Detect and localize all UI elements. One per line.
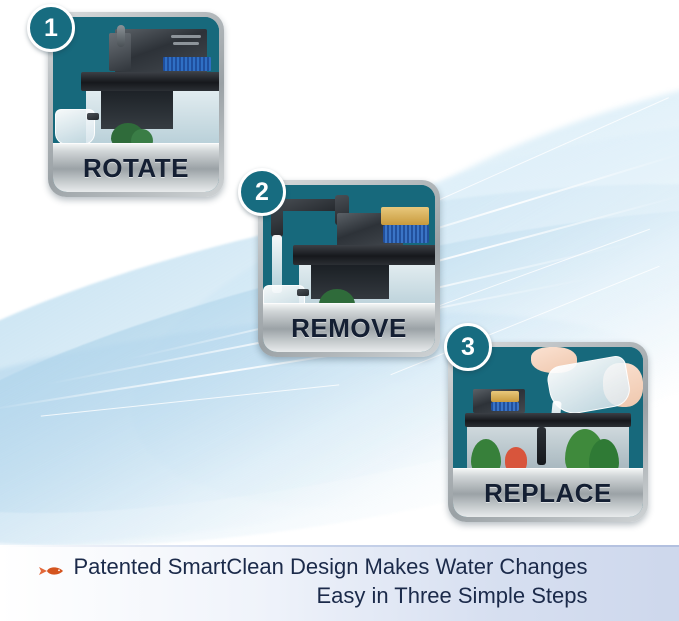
step-1-badge: 1 — [27, 4, 75, 52]
step-2-badge: 2 — [238, 168, 286, 216]
filter-cartridge — [491, 391, 519, 402]
step-3-label-bar: REPLACE — [453, 468, 643, 517]
caption-line-2: Easy in Three Simple Steps — [74, 581, 588, 610]
step-1-panel-inner: ROTATE — [53, 17, 219, 192]
aquarium-rim — [465, 413, 631, 427]
step-2-label-bar: REMOVE — [263, 303, 435, 352]
step-1-label-bar: ROTATE — [53, 143, 219, 192]
step-2-label: REMOVE — [291, 313, 407, 344]
step-1-photo — [53, 17, 219, 144]
filter-vent-1 — [171, 35, 201, 38]
step-2-photo — [263, 185, 435, 304]
caption-block: Patented SmartClean Design Makes Water C… — [0, 552, 679, 614]
caption-text: Patented SmartClean Design Makes Water C… — [74, 552, 606, 610]
filter-rotate-knob — [117, 25, 125, 47]
step-1-panel[interactable]: ROTATE — [48, 12, 224, 197]
filter-basket — [383, 225, 429, 243]
filter-cartridge — [381, 207, 429, 225]
step-3-panel-inner: REPLACE — [453, 347, 643, 517]
infographic-stage: ROTATE 1 — [0, 0, 679, 621]
aquarium-rim — [81, 72, 219, 91]
step-1-label: ROTATE — [83, 153, 189, 184]
aquarium-heater — [537, 427, 546, 465]
filter-vent-2 — [173, 42, 199, 45]
filter-blue-grate — [163, 57, 211, 71]
pitcher-spout — [87, 113, 99, 120]
pitcher-spout — [297, 289, 309, 296]
step-3-panel[interactable]: REPLACE — [448, 342, 648, 522]
step-3-badge: 3 — [444, 323, 492, 371]
filter-basket — [491, 402, 519, 411]
caption-line-1: Patented SmartClean Design Makes Water C… — [74, 552, 588, 581]
step-2-panel-inner: REMOVE — [263, 185, 435, 352]
aquarium-red-plant — [505, 447, 527, 469]
aquarium-interior-shadow — [101, 91, 173, 129]
step-3-label: REPLACE — [484, 478, 612, 509]
fish-icon — [36, 564, 66, 578]
step-2-panel[interactable]: REMOVE — [258, 180, 440, 357]
aquarium-rim — [293, 245, 435, 265]
